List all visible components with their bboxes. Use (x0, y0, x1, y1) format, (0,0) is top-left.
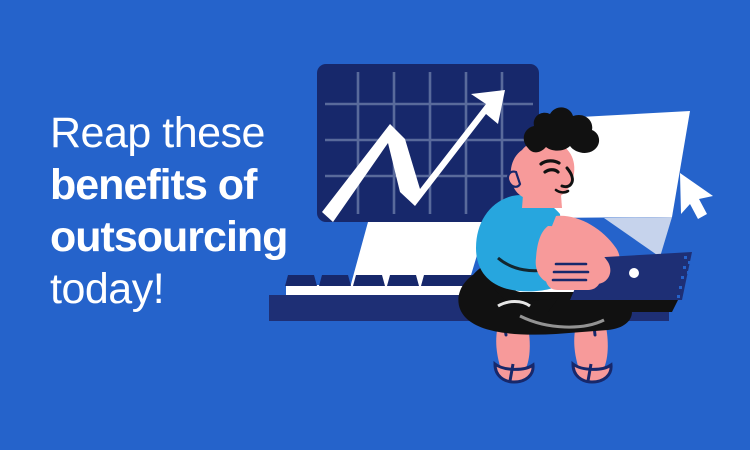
promo-banner: Reap these benefits of outsourcing today… (0, 0, 750, 450)
headline-line-2: benefits of (50, 164, 350, 207)
headline-line-4: today! (50, 268, 350, 311)
headline: Reap these benefits of outsourcing today… (50, 112, 350, 311)
laptop-logo-icon (629, 268, 639, 278)
headline-line-3: outsourcing (50, 216, 350, 259)
headline-line-1: Reap these (50, 112, 350, 155)
